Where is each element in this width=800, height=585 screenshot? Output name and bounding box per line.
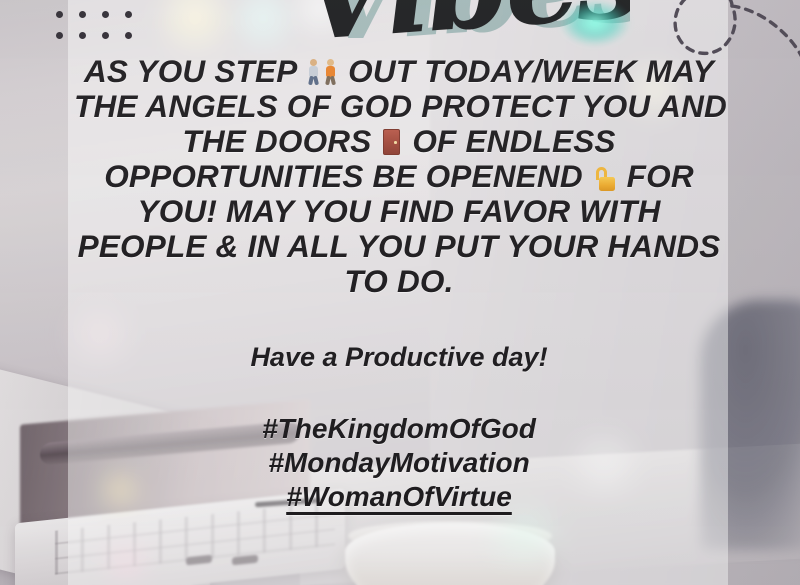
quote-line-text: PEOPLE & IN ALL YOU PUT YOUR HANDS (78, 228, 721, 264)
quote-line-text: OUT TODAY/WEEK MAY (348, 53, 714, 89)
quote-line: AS YOU STEP OUT TODAY/WEEK MAY (74, 54, 724, 89)
quote-line-text: OF ENDLESS (412, 123, 615, 159)
quote-line: OPPORTUNITIES BE OPENEND FOR (74, 159, 724, 194)
quote-text-block: AS YOU STEP OUT TODAY/WEEK MAY THE ANGEL… (74, 54, 724, 299)
quote-line: YOU! MAY YOU FIND FAVOR WITH (74, 194, 724, 229)
door-icon (383, 129, 400, 155)
quote-line: TO DO. (74, 264, 724, 299)
quote-line-text: FOR (627, 158, 694, 194)
quote-line: THE ANGELS OF GOD PROTECT YOU AND (74, 89, 724, 124)
hashtag-item: #MondayMotivation (74, 446, 724, 480)
script-gleam-highlight (560, 0, 630, 46)
quote-line-text: OPPORTUNITIES BE OPENEND (104, 158, 583, 194)
closing-line: Have a Productive day! (74, 340, 724, 374)
quote-line-text: THE DOORS (182, 123, 371, 159)
quote-line-text: YOU! MAY YOU FIND FAVOR WITH (137, 193, 660, 229)
quote-line-text: AS YOU STEP (84, 53, 296, 89)
quote-graphic-canvas: Vibes AS YOU STEP OUT TODAY/WEEK MAY THE… (0, 0, 800, 585)
hashtag-item: #WomanOfVirtue (74, 480, 724, 514)
person-walking-orange-icon (323, 59, 338, 85)
quote-line: PEOPLE & IN ALL YOU PUT YOUR HANDS (74, 229, 724, 264)
hashtag-block: #TheKingdomOfGod #MondayMotivation #Woma… (74, 412, 724, 514)
dot-grid-icon (48, 0, 140, 46)
hashtag-item: #TheKingdomOfGod (74, 412, 724, 446)
person-walking-blue-icon (306, 59, 321, 85)
quote-line-text: THE ANGELS OF GOD PROTECT YOU AND (74, 88, 727, 124)
quote-line-text: TO DO. (344, 263, 453, 299)
quote-line: THE DOORS OF ENDLESS (74, 124, 724, 159)
unlock-icon (595, 167, 615, 191)
